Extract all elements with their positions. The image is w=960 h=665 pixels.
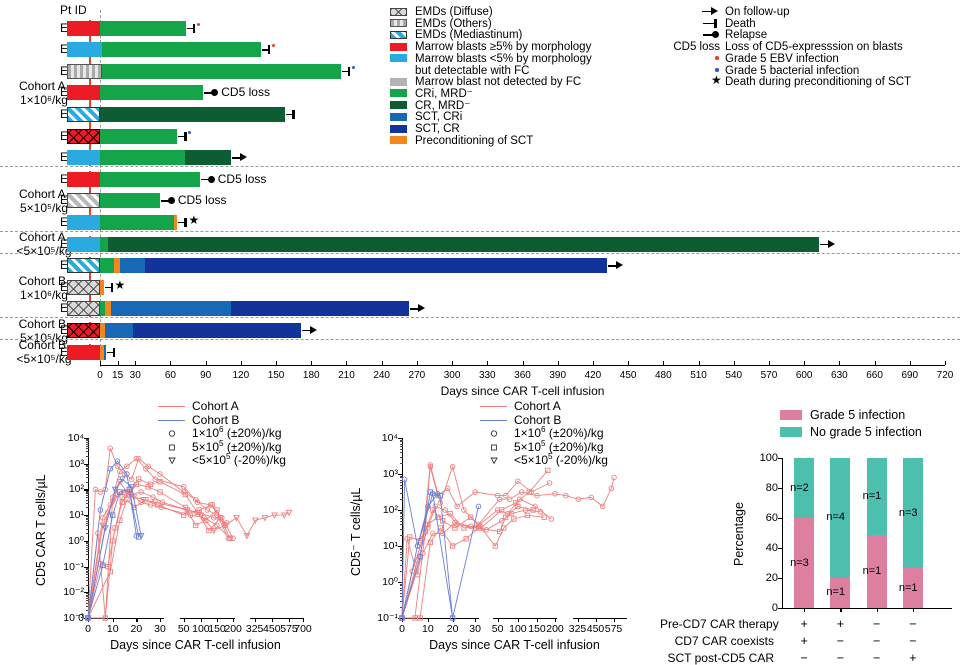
bar-segment-blast_lt5_fc <box>67 215 100 230</box>
arrow-icon <box>240 153 247 161</box>
legend-label: <5×105 (-20%)/kg <box>514 455 608 466</box>
legend-label: 5×105 (±20%)/kg <box>192 442 282 453</box>
bar-segment-blast_ge5 <box>67 21 100 36</box>
death-bar-icon <box>268 45 271 54</box>
cohort-separator <box>0 231 960 232</box>
x-tick-label: 300 <box>436 371 468 381</box>
legend-marker-circle-icon <box>166 427 186 440</box>
bar-segment-precond <box>174 215 178 230</box>
cohort-separator <box>0 253 960 254</box>
bar-segment-cri_mrd <box>102 64 340 79</box>
condition-value: − <box>792 652 816 664</box>
condition-value: − <box>865 635 889 647</box>
x-tick <box>910 361 911 365</box>
bar-segment-cri_mrd <box>102 42 260 57</box>
bar-segment-emd_diffuse <box>67 301 100 316</box>
legend-line-cohort-a <box>158 406 185 407</box>
bar-segment-sct_cri <box>105 323 133 338</box>
bar-segment-cr_mrd <box>185 150 232 165</box>
x-tick <box>241 361 242 365</box>
legend-swatch-emd_diffuse <box>390 8 407 16</box>
legend-label: No grade 5 infection <box>810 426 922 438</box>
condition-value: + <box>828 618 852 630</box>
x-axis-label: Days since CAR T-cell infusion <box>88 639 303 651</box>
legend-swatch-blast_lt5_fc <box>390 54 407 62</box>
legend-swatch-sct_cri <box>390 113 407 121</box>
legend-label-blast_lt5_fc2: but detectable with FC <box>415 65 529 77</box>
x-tick <box>593 361 594 365</box>
condition-value: − <box>828 652 852 664</box>
x-tick <box>417 361 418 365</box>
x-tick-label: 540 <box>718 371 750 381</box>
bar-segment-cr_mrd <box>100 107 285 122</box>
y-tick-label: 100 <box>748 453 778 463</box>
x-axis-line <box>782 608 952 609</box>
legend-swatch-no-grade-5-infection <box>780 427 802 437</box>
x-tick <box>346 361 347 365</box>
bar-segment-blast_ge5 <box>67 345 100 360</box>
y-tick <box>778 518 783 519</box>
relapse-dot-icon <box>211 89 218 96</box>
condition-value: + <box>901 652 925 664</box>
legend-swatch-cr_mrd <box>390 101 407 109</box>
death-bar-icon <box>184 218 187 227</box>
arrow-icon <box>616 261 623 269</box>
arrow-icon <box>828 240 835 248</box>
x-tick-label: 30 <box>119 371 151 381</box>
y-tick-label: 80 <box>748 483 778 493</box>
legend-relapse-dot-icon <box>712 31 719 38</box>
y-tick <box>778 458 783 459</box>
infection-dot-bacterial <box>188 131 191 134</box>
y-tick <box>778 548 783 549</box>
legend-ebv-dot-icon <box>715 56 719 60</box>
legend-death-line <box>703 23 714 25</box>
annotation-cd5-loss: CD5 loss <box>218 173 267 185</box>
relapse-dot-icon <box>208 176 215 183</box>
legend-label-sct_cri: SCT, CRi <box>415 111 462 123</box>
legend-swatch-blast_nd <box>390 78 407 86</box>
legend-label-star: Death during preconditioning of SCT <box>725 76 911 88</box>
legend-label: Cohort B <box>514 415 561 426</box>
legend-death-bar-icon <box>714 19 717 28</box>
bar-segment-cri_mrd <box>100 85 203 100</box>
y-axis-line <box>782 458 783 608</box>
x-tick-label: 360 <box>507 371 539 381</box>
legend-label-bacterial: Grade 5 bacterial infection <box>725 65 859 77</box>
bar-segment-blast_ge5 <box>67 172 100 187</box>
x-tick <box>769 361 770 365</box>
bar-segment-blast_ge5 <box>67 85 100 100</box>
y-tick-label: 40 <box>748 543 778 553</box>
x-tick <box>558 361 559 365</box>
legend-label-blast_ge5: Marrow blasts ≥5% by morphology <box>415 41 591 53</box>
bar-segment-emd_diffuse <box>67 280 100 295</box>
bar-segment-precond <box>100 280 104 295</box>
line-chart-car-t-cells: 10⁴10³10²10¹10⁰10⁻¹10⁻²10⁻³0010203050100… <box>18 400 338 665</box>
relapse-dot-icon <box>168 197 175 204</box>
death-bar-icon <box>184 132 187 141</box>
legend-label: 5×105 (±20%)/kg <box>514 442 604 453</box>
legend-marker-triangle-icon <box>166 454 186 467</box>
x-tick <box>628 361 629 365</box>
y-tick-label: 60 <box>748 513 778 523</box>
legend-label-sct_cr: SCT, CR <box>415 123 460 135</box>
bar-segment-sct_cr <box>145 258 607 273</box>
death-bar-icon <box>292 110 295 119</box>
x-tick <box>135 361 136 365</box>
bar-segment-cri_mrd <box>100 237 108 252</box>
x-tick-label: 570 <box>753 371 785 381</box>
x-tick-label: 210 <box>330 371 362 381</box>
bar-segment-blast_lt5_fc <box>67 42 102 57</box>
infection-dot-ebv <box>272 44 275 47</box>
x-tick <box>487 361 488 365</box>
bar-segment-cri_mrd <box>100 129 177 144</box>
x-tick-label: 630 <box>823 371 855 381</box>
legend-swatch-emd_mediastinum <box>390 31 407 39</box>
bar-segment-sct_cri <box>120 258 145 273</box>
y-axis-label: CD5 CAR T cells/µL <box>34 474 48 586</box>
stacked-bar-grade5-infection: 020406080100n=3n=2n=1n=4n=1n=1n=1n=3Perc… <box>660 400 960 665</box>
x-axis-label: Days since CAR T-cell infusion <box>402 639 627 651</box>
x-tick <box>118 361 119 365</box>
pt-id-header: Pt ID <box>60 4 87 16</box>
cohort-separator <box>0 317 960 318</box>
bar-segment-sct_cr <box>133 323 301 338</box>
bar-segment-emd_others <box>67 64 102 79</box>
bar-segment-cri_mrd <box>100 172 200 187</box>
y-tick <box>778 488 783 489</box>
y-tick-label: 20 <box>748 573 778 583</box>
condition-value: − <box>828 635 852 647</box>
legend-label: Cohort A <box>514 401 561 412</box>
swimmer-plot-panel: Pt IDCohort A,1×10⁶/kgCohort A,5×10⁵/kgC… <box>0 0 960 400</box>
cohort-separator <box>0 339 960 340</box>
legend-label-death: Death <box>725 18 756 30</box>
legend-swatch-emd_others <box>390 19 407 27</box>
condition-value: − <box>865 618 889 630</box>
series-line <box>88 482 289 618</box>
x-tick <box>170 361 171 365</box>
legend-label-followup: On follow-up <box>725 6 790 18</box>
x-tick <box>100 361 101 365</box>
x-tick-label: 90 <box>190 371 222 381</box>
y-axis-label: Percentage <box>732 502 746 566</box>
legend-label-blast_lt5_fc: Marrow blasts <5% by morphology <box>415 53 592 65</box>
x-tick-label: 150 <box>260 371 292 381</box>
bar-segment-cri_mrd <box>100 21 186 36</box>
legend-star-icon: ★ <box>711 75 722 86</box>
bar-segment-cri_mrd <box>100 193 160 208</box>
x-tick <box>206 361 207 365</box>
x-tick-label: 480 <box>647 371 679 381</box>
bar-segment-sct_cri <box>104 345 106 360</box>
x-tick <box>663 361 664 365</box>
y-tick-label: 0 <box>748 603 778 613</box>
legend-cd5-loss-prefix: CD5 loss <box>630 41 720 53</box>
legend-swatch-blast_ge5 <box>390 43 407 51</box>
data-point <box>549 517 554 522</box>
x-tick <box>840 608 841 612</box>
legend-line-cohort-b <box>480 420 507 421</box>
legend-label-ebv: Grade 5 EBV infection <box>725 53 839 65</box>
legend-label-cd5loss: Loss of CD5-expresssion on blasts <box>725 41 903 53</box>
bar-segment-emd_mediastinum <box>67 107 100 122</box>
legend-label: <5×105 (-20%)/kg <box>192 455 286 466</box>
legend-marker-circle-icon <box>488 427 508 440</box>
x-tick-label: 660 <box>859 371 891 381</box>
x-tick <box>311 361 312 365</box>
condition-value: − <box>901 635 925 647</box>
bar-count-label: n=1 <box>826 586 845 598</box>
x-tick-label: 270 <box>401 371 433 381</box>
legend-line-cohort-b <box>158 420 185 421</box>
legend-swatch-grade-5-infection <box>780 410 802 420</box>
x-axis-label: Days since CAR T-cell infusion <box>100 385 945 397</box>
condition-value: − <box>901 618 925 630</box>
bar-segment-sct_cr <box>231 301 408 316</box>
x-tick-label: 510 <box>683 371 715 381</box>
annotation-cd5-loss: CD5 loss <box>178 194 227 206</box>
bar-segment-emd_diffuse_red <box>67 129 100 144</box>
bar-segment-emd_diffuse_red <box>67 323 100 338</box>
x-tick-label: 720 <box>929 371 960 381</box>
condition-row-label: CD7 CAR coexists <box>660 635 774 647</box>
legend-label-cr_mrd: CR, MRD⁻ <box>415 100 470 112</box>
legend-marker-square-icon <box>166 441 186 454</box>
legend-marker-triangle-icon <box>488 454 508 467</box>
y-tick <box>778 578 783 579</box>
legend-label: Cohort B <box>192 415 239 426</box>
bar-count-label: n=1 <box>899 582 918 594</box>
annotation-cd5-loss: CD5 loss <box>221 86 270 98</box>
legend-label-blast_nd: Marrow blast not detected by FC <box>415 76 581 88</box>
x-tick <box>804 361 805 365</box>
line-chart-cd5-t-cells: 10⁴10³10²10¹10⁰10⁻¹010203050100150200325… <box>330 400 660 665</box>
x-tick <box>877 608 878 612</box>
legend-arrow-icon <box>711 7 718 15</box>
condition-value: + <box>792 635 816 647</box>
legend-label: 1×106 (±20%)/kg <box>514 428 604 439</box>
condition-row-label: Pre-CD7 CAR therapy <box>660 618 774 630</box>
x-tick-label: 180 <box>295 371 327 381</box>
condition-value: − <box>865 652 889 664</box>
x-tick-label: 240 <box>366 371 398 381</box>
legend-label-emd_others: EMDs (Others) <box>415 18 492 30</box>
x-tick-label: 450 <box>612 371 644 381</box>
y-tick <box>778 608 783 609</box>
legend-line-cohort-a <box>480 406 507 407</box>
star-icon: ★ <box>188 215 199 226</box>
condition-row-label: SCT post-CD5 CAR <box>660 652 774 664</box>
x-tick <box>523 361 524 365</box>
legend-label-relapse: Relapse <box>725 29 767 41</box>
series-line <box>402 465 614 618</box>
x-tick <box>382 361 383 365</box>
infection-dot-ebv <box>197 23 200 26</box>
bar-segment-cr_mrd <box>108 237 819 252</box>
x-tick <box>804 608 805 612</box>
legend-marker-square-icon <box>488 441 508 454</box>
bar-segment-sct_cri <box>111 301 232 316</box>
bar-segment-cri_mrd <box>100 215 174 230</box>
bar-count-label: n=2 <box>790 482 809 494</box>
x-tick <box>699 361 700 365</box>
x-tick-label: 60 <box>154 371 186 381</box>
legend-swatch-cri_mrd <box>390 89 407 97</box>
bar-count-label: n=3 <box>790 557 809 569</box>
condition-value: + <box>792 618 816 630</box>
legend-label: Grade 5 infection <box>810 409 905 421</box>
series-line <box>402 492 453 618</box>
legend-label-cri_mrd: CRi, MRD⁻ <box>415 88 473 100</box>
infection-dot-bacterial <box>352 66 355 69</box>
x-tick-label: 120 <box>225 371 257 381</box>
x-tick-label: 420 <box>577 371 609 381</box>
legend-label: 1×106 (±20%)/kg <box>192 428 282 439</box>
x-tick <box>913 608 914 612</box>
star-icon: ★ <box>115 280 126 291</box>
bar-segment-emd_mediastinum <box>67 258 100 273</box>
series-line <box>402 499 551 618</box>
bar-count-label: n=1 <box>863 565 882 577</box>
x-tick-label: 600 <box>788 371 820 381</box>
legend-swatch-precond <box>390 136 407 144</box>
legend-followup-line <box>702 11 711 13</box>
x-axis-line <box>100 365 945 366</box>
legend-label-emd_diffuse: EMDs (Diffuse) <box>415 6 493 18</box>
x-tick-label: 390 <box>542 371 574 381</box>
x-tick-label: 690 <box>894 371 926 381</box>
x-tick-label: 330 <box>471 371 503 381</box>
y-axis-label: CD5⁻ T cells/µL <box>348 488 363 576</box>
bar-segment-cri_mrd <box>100 150 185 165</box>
x-tick <box>945 361 946 365</box>
death-bar-icon <box>111 283 114 292</box>
x-tick <box>452 361 453 365</box>
cohort-separator <box>0 166 960 167</box>
x-tick <box>875 361 876 365</box>
legend-swatch-sct_cr <box>390 125 407 133</box>
arrow-icon <box>310 326 317 334</box>
death-bar-icon <box>193 24 196 33</box>
bar-segment-blast_lt5_fc <box>67 237 100 252</box>
bar-segment-blast_lt5_fc <box>67 150 100 165</box>
death-bar-icon <box>348 67 351 76</box>
legend-bacterial-dot-icon <box>715 68 719 72</box>
bar-count-label: n=4 <box>826 511 845 523</box>
x-tick <box>734 361 735 365</box>
x-tick <box>276 361 277 365</box>
death-bar-icon <box>113 348 116 357</box>
legend-label-precond: Preconditioning of SCT <box>415 135 533 147</box>
bar-segment-cri_mrd <box>100 258 114 273</box>
bar-count-label: n=1 <box>863 490 882 502</box>
bar-segment-emd_mediastinum_gray <box>67 193 100 208</box>
legend-label: Cohort A <box>192 401 239 412</box>
bar-count-label: n=3 <box>899 507 918 519</box>
arrow-icon <box>418 304 425 312</box>
x-tick <box>839 361 840 365</box>
series-line <box>88 459 233 618</box>
legend-label-emd_mediastinum: EMDs (Mediastinum) <box>415 29 522 41</box>
series-line <box>402 494 479 618</box>
